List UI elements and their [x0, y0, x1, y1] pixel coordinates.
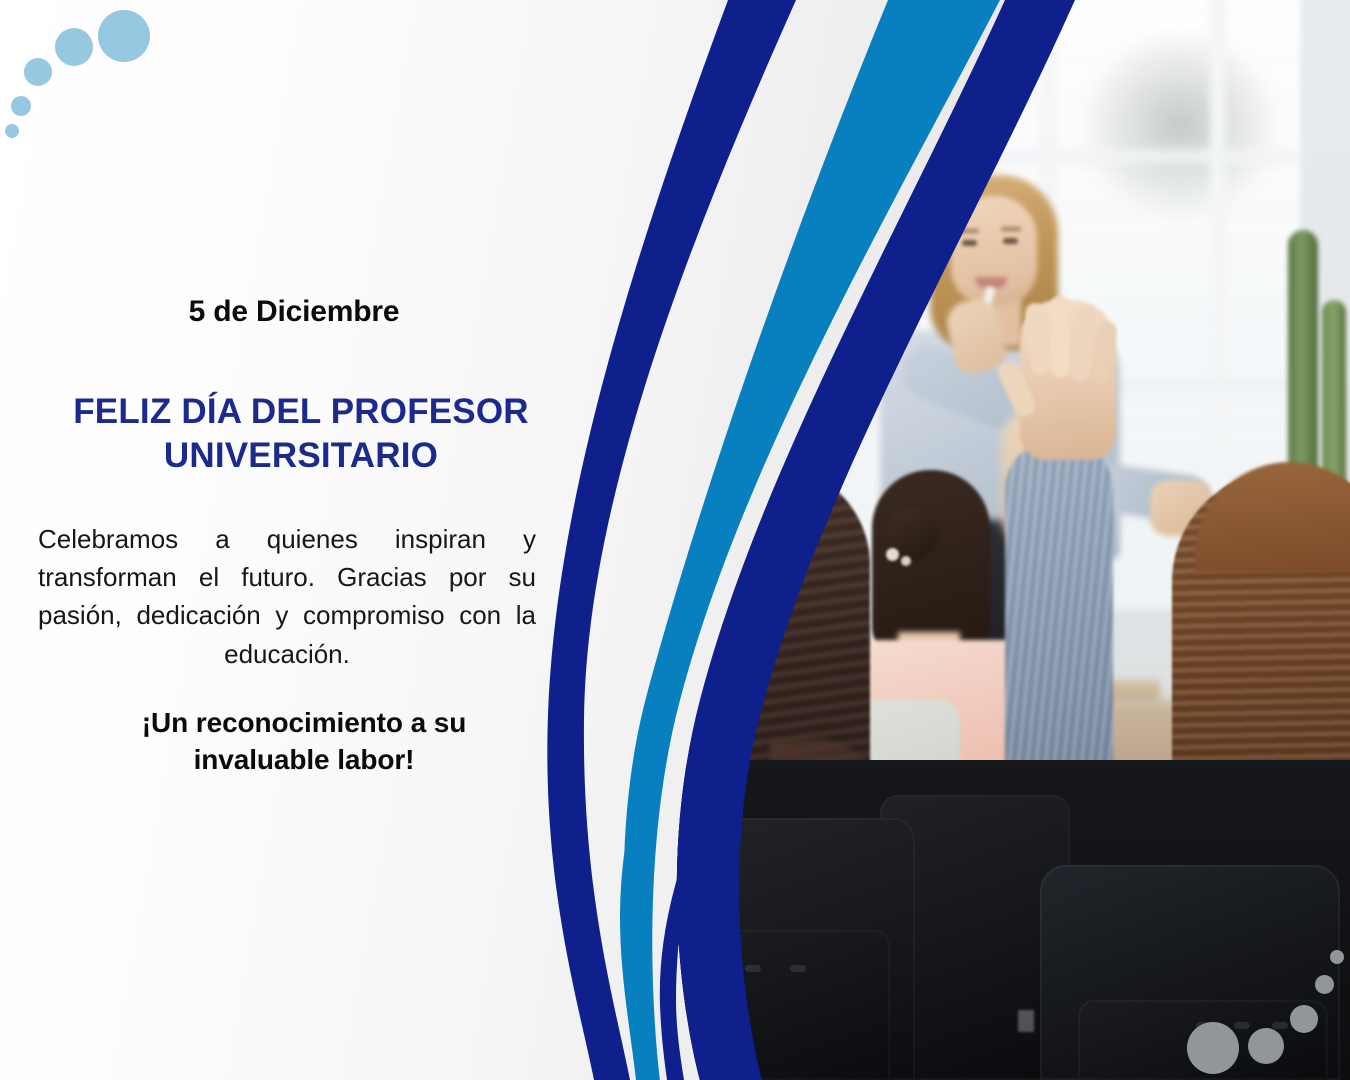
- photo-chair-tag: [1018, 1010, 1034, 1032]
- closing-line-1: ¡Un reconocimiento a su: [142, 707, 466, 738]
- decorative-dot-large: [98, 10, 150, 62]
- text-column: 5 de Diciembre FELIZ DÍA DEL PROFESOR UN…: [0, 0, 600, 1080]
- photo-window-rail: [740, 150, 1300, 163]
- photo-chair-left-lower: [700, 930, 890, 1080]
- photo-chair-vent: [1272, 1022, 1288, 1029]
- photo-chair-vent: [1234, 1022, 1250, 1029]
- photo-chair-vent: [745, 965, 761, 972]
- photo-wall: [620, 0, 740, 700]
- photo-tree-outside: [880, 10, 1030, 140]
- photo-tree-outside-2: [1080, 30, 1280, 220]
- body-paragraph: Celebramos a quienes inspiran y transfor…: [38, 520, 536, 673]
- light-blue-inner-arc: [620, 740, 652, 1080]
- closing-line-2: invaluable labor!: [0, 742, 608, 779]
- photo-hair-clip: [886, 548, 899, 561]
- decorative-dot-small: [1290, 1005, 1318, 1033]
- photo-professor-eye: [1003, 238, 1018, 244]
- photo-professor-eyebrow: [1001, 227, 1021, 231]
- date-kicker: 5 de Diciembre: [0, 295, 588, 329]
- page-title-line-1: FELIZ DÍA DEL PROFESOR: [73, 392, 529, 431]
- decorative-dot-large: [1187, 1022, 1239, 1074]
- decorative-dot-xsmall: [1315, 975, 1334, 994]
- photo-chair-vent: [790, 965, 806, 972]
- photo-professor-eye: [962, 240, 977, 246]
- decorative-dot-tiny: [1330, 950, 1344, 964]
- photo-professor-eyebrow: [959, 229, 979, 233]
- photo-hair-clip-2: [901, 556, 911, 566]
- decorative-dot-medium: [55, 28, 93, 66]
- closing-statement: ¡Un reconocimiento a su invaluable labor…: [0, 705, 608, 779]
- photo-finger: [1050, 296, 1070, 378]
- decorative-dot-medium: [1248, 1028, 1284, 1064]
- decorative-dot-xsmall: [11, 96, 31, 116]
- page-title: FELIZ DÍA DEL PROFESOR UNIVERSITARIO: [0, 390, 602, 478]
- decorative-dot-small: [24, 58, 52, 86]
- decorative-dot-tiny: [5, 124, 19, 138]
- page-title-line-2: UNIVERSITARIO: [0, 434, 602, 478]
- poster-canvas: 5 de Diciembre FELIZ DÍA DEL PROFESOR UN…: [0, 0, 1350, 1080]
